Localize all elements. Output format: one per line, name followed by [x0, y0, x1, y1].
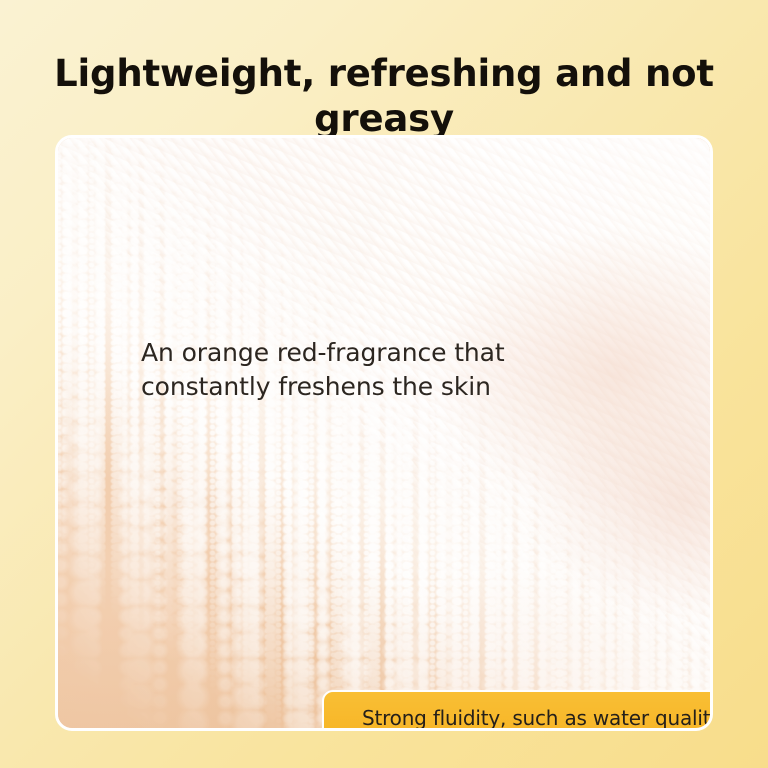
- skin-cream-swatch-photo: An orange red-fragrance that constantly …: [55, 135, 713, 731]
- promo-poster: Lightweight, refreshing and not greasy A…: [0, 0, 768, 768]
- feature-badge-fluidity: Strong fluidity, such as water quality: [322, 690, 713, 731]
- subtitle-text: An orange red-fragrance that constantly …: [141, 336, 611, 404]
- page-title: Lightweight, refreshing and not greasy: [50, 51, 718, 142]
- feature-badge-label: Strong fluidity, such as water quality: [362, 706, 713, 730]
- cream-shadow-layer: [58, 138, 710, 728]
